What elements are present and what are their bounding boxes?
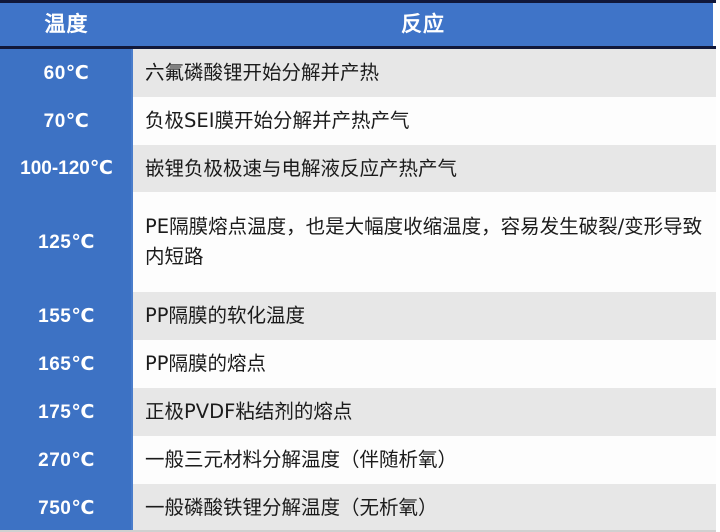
cell-reaction: 嵌锂负极极速与电解液反应产热产气 xyxy=(133,154,716,184)
cell-temperature: 165℃ xyxy=(0,353,133,376)
cell-temperature: 750℃ xyxy=(0,497,133,520)
cell-reaction: PP隔膜的熔点 xyxy=(133,349,716,379)
cell-temperature: 125℃ xyxy=(0,231,133,254)
cell-reaction: 负极SEI膜开始分解并产热产气 xyxy=(133,106,716,136)
table-right-margin xyxy=(716,0,720,532)
temperature-reaction-table: 温度 反应 60℃ 六氟磷酸锂开始分解并产热 70℃ 负极SEI膜开始分解并产热… xyxy=(0,0,720,532)
table-body: 60℃ 六氟磷酸锂开始分解并产热 70℃ 负极SEI膜开始分解并产热产气 100… xyxy=(0,49,720,532)
cell-temperature: 270℃ xyxy=(0,449,133,472)
table-header-row: 温度 反应 xyxy=(0,3,713,46)
cell-reaction: 六氟磷酸锂开始分解并产热 xyxy=(133,58,716,88)
cell-reaction: 正极PVDF粘结剂的熔点 xyxy=(133,397,716,427)
column-header-temperature: 温度 xyxy=(0,3,133,46)
cell-reaction: 一般磷酸铁锂分解温度（无析氧） xyxy=(133,493,716,523)
cell-temperature: 100-120℃ xyxy=(0,157,133,180)
cell-temperature: 175℃ xyxy=(0,401,133,424)
cell-reaction: PE隔膜熔点温度，也是大幅度收缩温度，容易发生破裂/变形导致内短路 xyxy=(133,212,716,272)
cell-reaction: PP隔膜的软化温度 xyxy=(133,301,716,331)
cell-temperature: 60℃ xyxy=(0,62,133,85)
cell-reaction: 一般三元材料分解温度（伴随析氧） xyxy=(133,445,716,475)
column-header-reaction: 反应 xyxy=(133,3,713,46)
cell-temperature: 70℃ xyxy=(0,110,133,133)
cell-temperature: 155℃ xyxy=(0,305,133,328)
